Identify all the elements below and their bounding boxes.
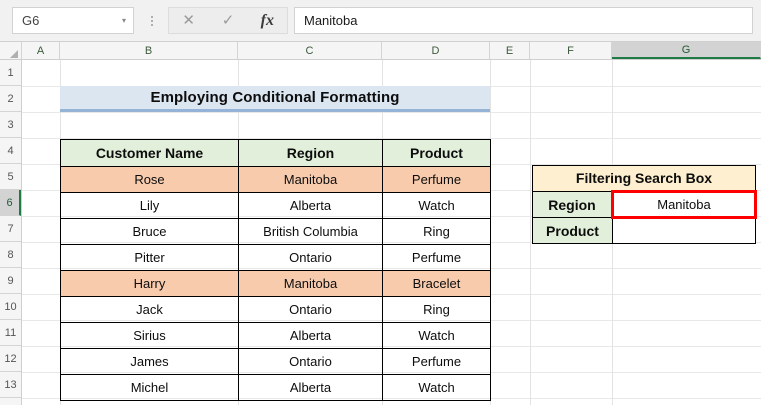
table-cell[interactable]: Perfume (383, 245, 491, 271)
row-header-9[interactable]: 9 (0, 268, 21, 294)
row-header-6[interactable]: 6 (0, 190, 21, 216)
table-cell[interactable]: Manitoba (239, 167, 383, 193)
search-box-field-row: RegionManitoba (533, 192, 756, 218)
confirm-icon[interactable]: ✓ (208, 8, 247, 33)
table-cell[interactable]: Ontario (239, 349, 383, 375)
search-box-body: Filtering Search BoxRegionManitobaProduc… (533, 166, 756, 244)
row-header-2[interactable]: 2 (0, 86, 21, 112)
table-row[interactable]: HarryManitobaBracelet (61, 271, 491, 297)
column-header-c[interactable]: C (238, 42, 382, 59)
search-box-title-row: Filtering Search Box (533, 166, 756, 192)
column-header-a[interactable]: A (22, 42, 60, 59)
row-header-7[interactable]: 7 (0, 216, 21, 242)
table-cell[interactable]: Perfume (383, 167, 491, 193)
table-cell[interactable]: Lily (61, 193, 239, 219)
table-cell[interactable]: Alberta (239, 375, 383, 401)
formula-bar: G6 ▾ ✕ ✓ fx Manitoba (0, 0, 761, 42)
row-header-12[interactable]: 12 (0, 346, 21, 372)
row-header-4[interactable]: 4 (0, 138, 21, 164)
table-row[interactable]: RoseManitobaPerfume (61, 167, 491, 193)
table-cell[interactable]: Watch (383, 193, 491, 219)
insert-function-icon[interactable]: fx (248, 8, 287, 33)
table-row[interactable]: JamesOntarioPerfume (61, 349, 491, 375)
formula-input[interactable]: Manitoba (294, 7, 753, 34)
row-header-8[interactable]: 8 (0, 242, 21, 268)
search-box-table: Filtering Search BoxRegionManitobaProduc… (532, 165, 757, 244)
formula-actions-group: ✕ ✓ fx (168, 7, 288, 34)
table-cell[interactable]: Ring (383, 297, 491, 323)
table-cell[interactable]: Ontario (239, 297, 383, 323)
gridline-horizontal (22, 112, 761, 113)
search-field-input-region[interactable]: Manitoba (613, 192, 756, 218)
table-cell[interactable]: Manitoba (239, 271, 383, 297)
table-cell[interactable]: Perfume (383, 349, 491, 375)
search-field-label: Region (533, 192, 613, 218)
table-cell[interactable]: Bruce (61, 219, 239, 245)
table-cell[interactable]: Ring (383, 219, 491, 245)
row-header-3[interactable]: 3 (0, 112, 21, 138)
column-header-band: ABCDEFG (0, 42, 761, 60)
table-cell[interactable]: Ontario (239, 245, 383, 271)
table-cell[interactable]: Jack (61, 297, 239, 323)
dot (151, 20, 153, 22)
table-cell[interactable]: Michel (61, 375, 239, 401)
table-row[interactable]: MichelAlbertaWatch (61, 375, 491, 401)
table-row[interactable]: BruceBritish ColumbiaRing (61, 219, 491, 245)
column-header-e[interactable]: E (490, 42, 530, 59)
section-title-banner: Employing Conditional Formatting (60, 86, 490, 112)
search-box-title: Filtering Search Box (533, 166, 756, 192)
table-cell[interactable]: British Columbia (239, 219, 383, 245)
table-cell[interactable]: Pitter (61, 245, 239, 271)
table-row[interactable]: JackOntarioRing (61, 297, 491, 323)
table-cell[interactable]: Watch (383, 323, 491, 349)
row-header-band: 12345678910111213 (0, 60, 22, 405)
table-row[interactable]: LilyAlbertaWatch (61, 193, 491, 219)
row-header-10[interactable]: 10 (0, 294, 21, 320)
column-header-f[interactable]: F (530, 42, 612, 59)
select-all-corner[interactable] (0, 42, 22, 59)
worksheet-grid[interactable]: Employing Conditional Formatting Custome… (22, 60, 761, 405)
table-row[interactable]: PitterOntarioPerfume (61, 245, 491, 271)
table-cell[interactable]: James (61, 349, 239, 375)
section-title-text: Employing Conditional Formatting (150, 89, 399, 106)
column-header-cell[interactable]: Product (383, 140, 491, 167)
row-header-11[interactable]: 11 (0, 320, 21, 346)
search-box-field-row: Product (533, 218, 756, 244)
table-cell[interactable]: Bracelet (383, 271, 491, 297)
gridline-vertical (530, 60, 531, 405)
search-field-label: Product (533, 218, 613, 244)
row-header-5[interactable]: 5 (0, 164, 21, 190)
cancel-icon[interactable]: ✕ (169, 8, 208, 33)
chevron-down-icon[interactable]: ▾ (115, 17, 133, 25)
column-header-cell[interactable]: Region (239, 140, 383, 167)
column-header-g[interactable]: G (612, 42, 761, 59)
table-cell[interactable]: Sirius (61, 323, 239, 349)
data-table: Customer NameRegionProductRoseManitobaPe… (60, 139, 491, 401)
table-cell[interactable]: Harry (61, 271, 239, 297)
column-header-b[interactable]: B (60, 42, 238, 59)
dot (151, 16, 153, 18)
column-header-cell[interactable]: Customer Name (61, 140, 239, 167)
table-cell[interactable]: Rose (61, 167, 239, 193)
name-box[interactable]: G6 ▾ (12, 7, 134, 34)
dot (151, 24, 153, 26)
table-row[interactable]: SiriusAlbertaWatch (61, 323, 491, 349)
search-field-input-product[interactable] (613, 218, 756, 244)
filtering-search-box-panel: Filtering Search BoxRegionManitobaProduc… (532, 165, 757, 244)
formula-input-value: Manitoba (295, 13, 357, 28)
data-table-body: Customer NameRegionProductRoseManitobaPe… (61, 140, 491, 401)
column-header-d[interactable]: D (382, 42, 490, 59)
table-cell[interactable]: Alberta (239, 193, 383, 219)
name-box-value: G6 (13, 13, 115, 28)
table-cell[interactable]: Alberta (239, 323, 383, 349)
table-cell[interactable]: Watch (383, 375, 491, 401)
row-header-13[interactable]: 13 (0, 372, 21, 398)
row-header-1[interactable]: 1 (0, 60, 21, 86)
table-header-row: Customer NameRegionProduct (61, 140, 491, 167)
more-options-icon[interactable] (146, 10, 158, 32)
